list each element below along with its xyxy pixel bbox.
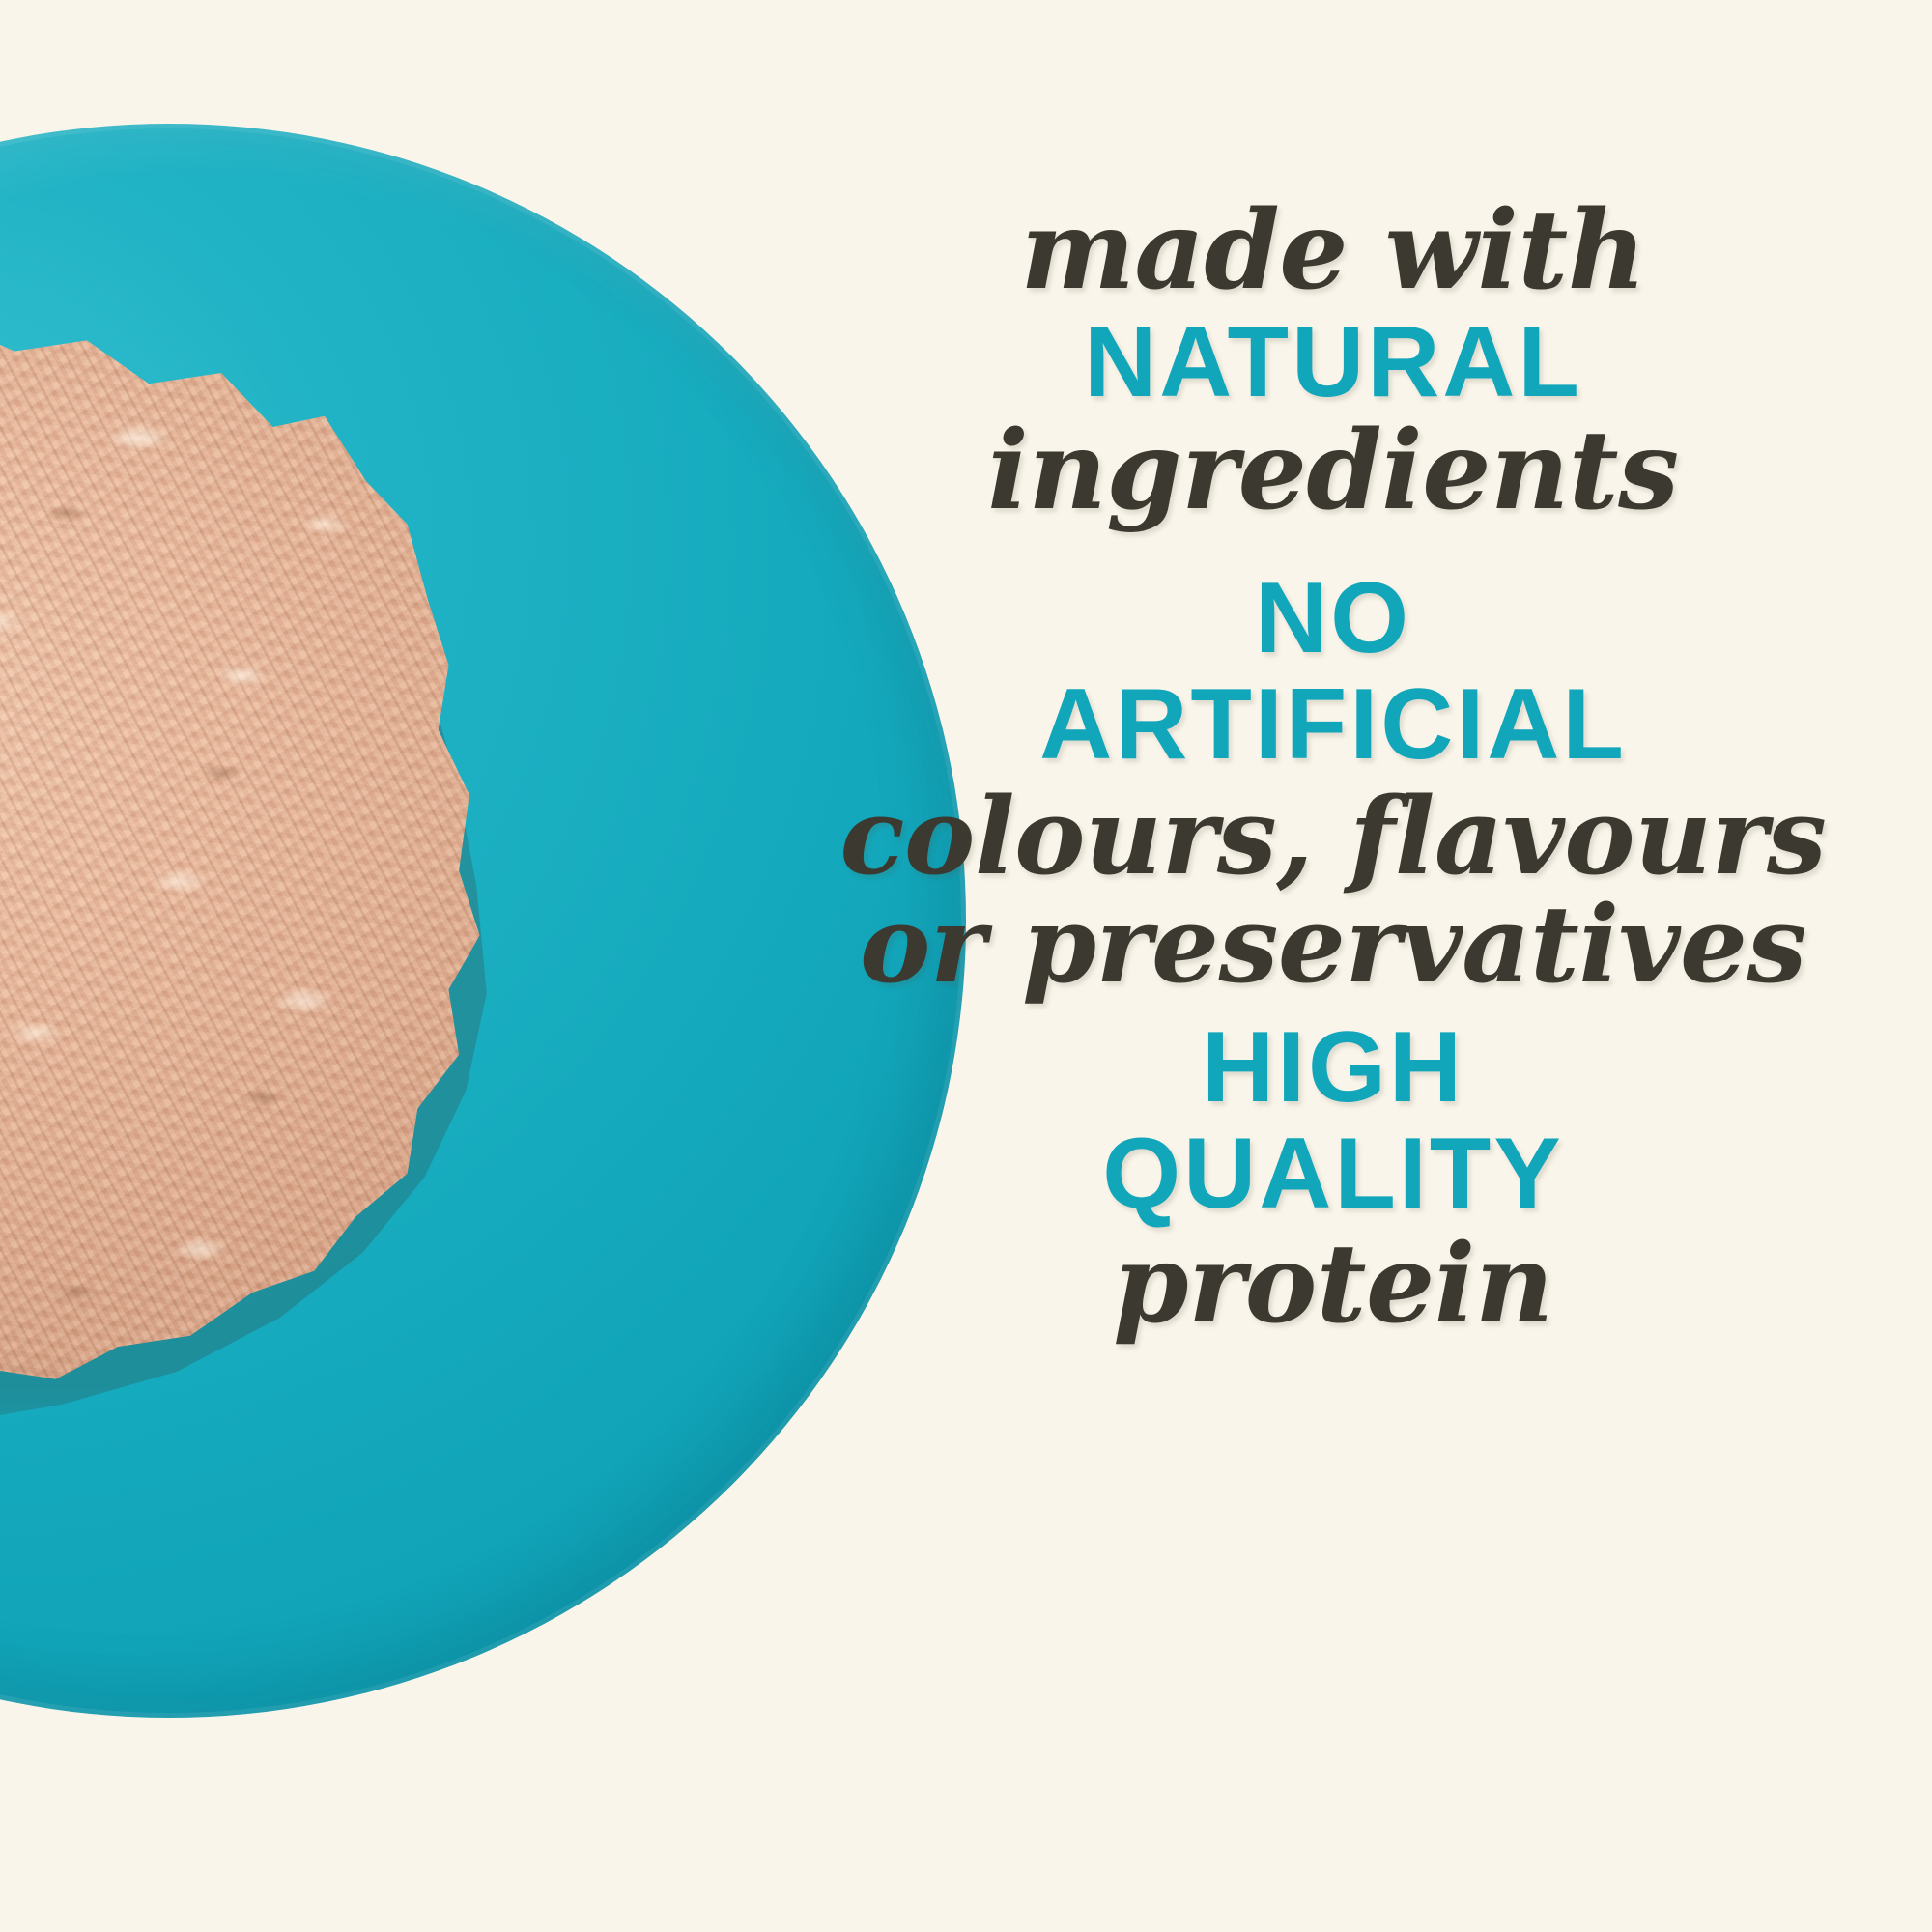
shredded-pate-cat-food [0, 319, 531, 1401]
claim-natural-ingredients: made with NATURAL ingredients [734, 198, 1932, 524]
claim-line-emphasis: NO [734, 570, 1932, 668]
food-portion [0, 319, 531, 1401]
claims-column: made with NATURAL ingredients NO ARTIFIC… [734, 0, 1932, 1932]
claim-line-emphasis: HIGH [734, 1019, 1932, 1118]
claim-line: ingredients [734, 418, 1932, 525]
claim-no-artificial: NO ARTIFICIAL colours, flavours or prese… [734, 570, 1932, 996]
claim-line-emphasis: ARTIFICIAL [734, 676, 1932, 775]
claim-high-quality-protein: HIGH QUALITY protein [734, 1019, 1932, 1338]
claim-line: colours, flavours [734, 784, 1932, 889]
claim-line: made with [734, 198, 1932, 304]
claim-line-emphasis: NATURAL [734, 314, 1932, 412]
product-feature-graphic: made with NATURAL ingredients NO ARTIFIC… [0, 0, 1932, 1932]
claim-line: or preservatives [734, 893, 1932, 997]
claim-line: protein [734, 1232, 1932, 1338]
claim-line-emphasis: QUALITY [734, 1125, 1932, 1224]
